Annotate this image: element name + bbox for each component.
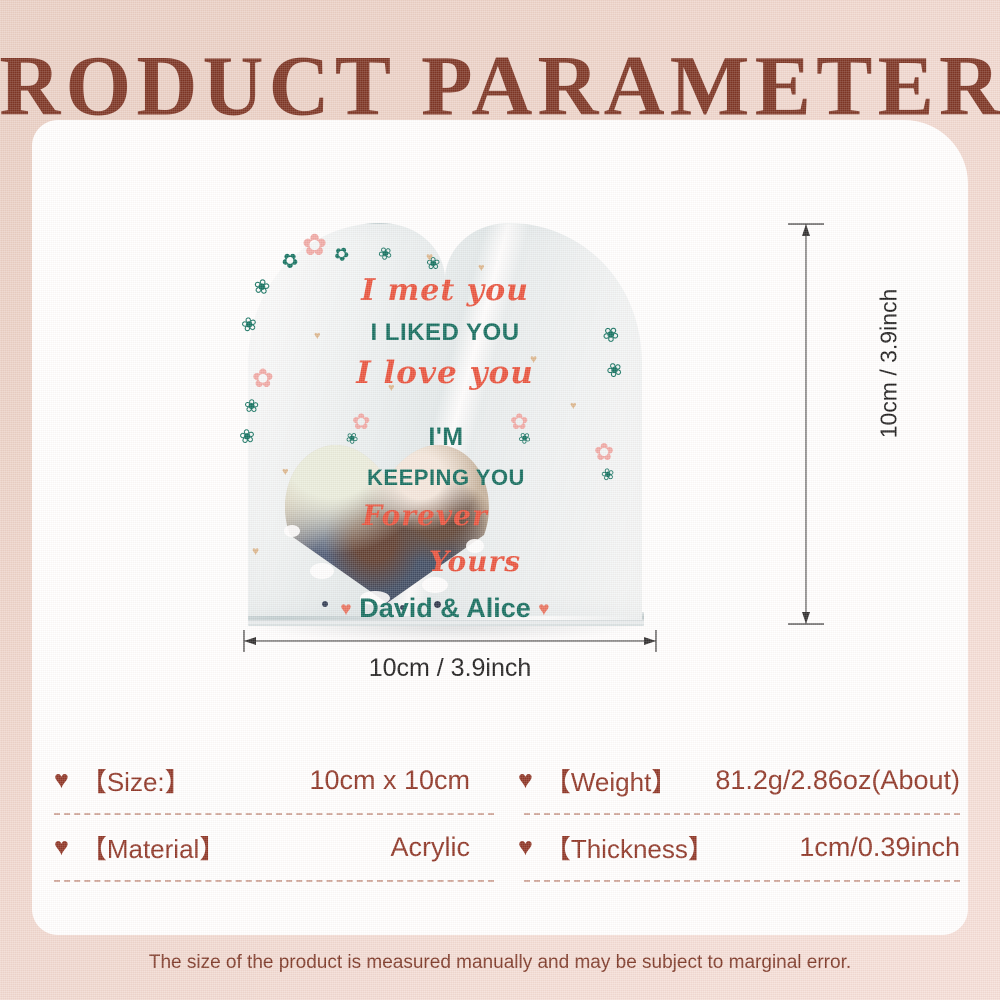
product-stage: ✿ ✿ ✿ ❀ ❀ ❀ ❀ ✿ ❀ ❀ ❀ ❀ ✿ ❀ ✿ ❀ ✿ (32, 120, 968, 700)
plaque-line-forever: Forever (310, 499, 540, 532)
rose-icon: ✿ (594, 441, 614, 465)
param-value: 81.2g/2.86oz(About) (715, 765, 960, 796)
mini-heart-icon: ♥ (340, 599, 351, 620)
tan-heart-icon: ♥ (252, 545, 259, 557)
row-separator (32, 880, 968, 882)
heart-bullet-icon: ♥ (54, 768, 69, 793)
tan-heart-icon: ♥ (570, 401, 577, 412)
mini-heart-icon: ♥ (538, 599, 549, 620)
param-value: 10cm x 10cm (309, 765, 470, 796)
row-separator-left (54, 880, 494, 882)
table-row: ♥ 【Material】 Acrylic ♥ 【Thickness】 1cm/0… (32, 815, 968, 880)
footer-disclaimer: The size of the product is measured manu… (0, 952, 1000, 974)
heart-bullet-icon: ♥ (518, 768, 533, 793)
param-value: Acrylic (391, 832, 471, 863)
param-value: 1cm/0.39inch (799, 832, 960, 863)
rose-icon: ✿ (302, 231, 327, 261)
param-cell-weight: ♥ 【Weight】 81.2g/2.86oz(About) (500, 748, 968, 813)
heart-bullet-icon: ♥ (518, 835, 533, 860)
param-label: 【Material】 (81, 829, 225, 866)
photo-splatter (310, 563, 334, 579)
product-card: ✿ ✿ ✿ ❀ ❀ ❀ ❀ ✿ ❀ ❀ ❀ ❀ ✿ ❀ ✿ ❀ ✿ (32, 120, 968, 935)
plaque-line-met: I met you (230, 273, 660, 308)
plaque-line-yours: Yours (360, 545, 590, 578)
dimension-horizontal-label: 10cm / 3.9inch (240, 654, 660, 683)
plaque-line-keeping: KEEPING YOU (326, 465, 566, 491)
param-cell-material: ♥ 【Material】 Acrylic (32, 815, 500, 880)
dimension-vertical-label: 10cm / 3.9inch (875, 289, 902, 439)
plaque-line-im: I'M (326, 423, 566, 452)
param-label: 【Size:】 (81, 762, 191, 799)
table-row: ♥ 【Size:】 10cm x 10cm ♥ 【Weight】 81.2g/2… (32, 748, 968, 813)
plaque-names-row: ♥ David & Alice ♥ (230, 593, 660, 624)
param-cell-size: ♥ 【Size:】 10cm x 10cm (32, 748, 500, 813)
plaque-line-liked: I LIKED YOU (230, 319, 660, 347)
param-label: 【Thickness】 (545, 829, 714, 866)
heart-plaque: ✿ ✿ ✿ ❀ ❀ ❀ ❀ ✿ ❀ ❀ ❀ ❀ ✿ ❀ ✿ ❀ ✿ (230, 215, 660, 625)
param-label: 【Weight】 (545, 762, 677, 799)
leaf-sprig-icon: ❀ (237, 427, 258, 446)
plaque-names: David & Alice (359, 593, 531, 623)
dimension-horizontal: 10cm / 3.9inch (240, 630, 660, 700)
heart-bullet-icon: ♥ (54, 835, 69, 860)
tan-heart-icon: ♥ (426, 251, 433, 263)
infographic-page: PRODUCT PARAMETERS ✿ ✿ ✿ ❀ ❀ ❀ ❀ ✿ ❀ (0, 0, 1000, 1000)
photo-splatter (284, 525, 300, 537)
dimension-vertical: 10cm / 3.9inch (788, 220, 908, 630)
parameters-table: ♥ 【Size:】 10cm x 10cm ♥ 【Weight】 81.2g/2… (32, 748, 968, 882)
plaque-line-love: I love you (230, 355, 660, 391)
photo-splatter (422, 577, 448, 593)
param-cell-thickness: ♥ 【Thickness】 1cm/0.39inch (500, 815, 968, 880)
row-separator-right (524, 880, 960, 882)
